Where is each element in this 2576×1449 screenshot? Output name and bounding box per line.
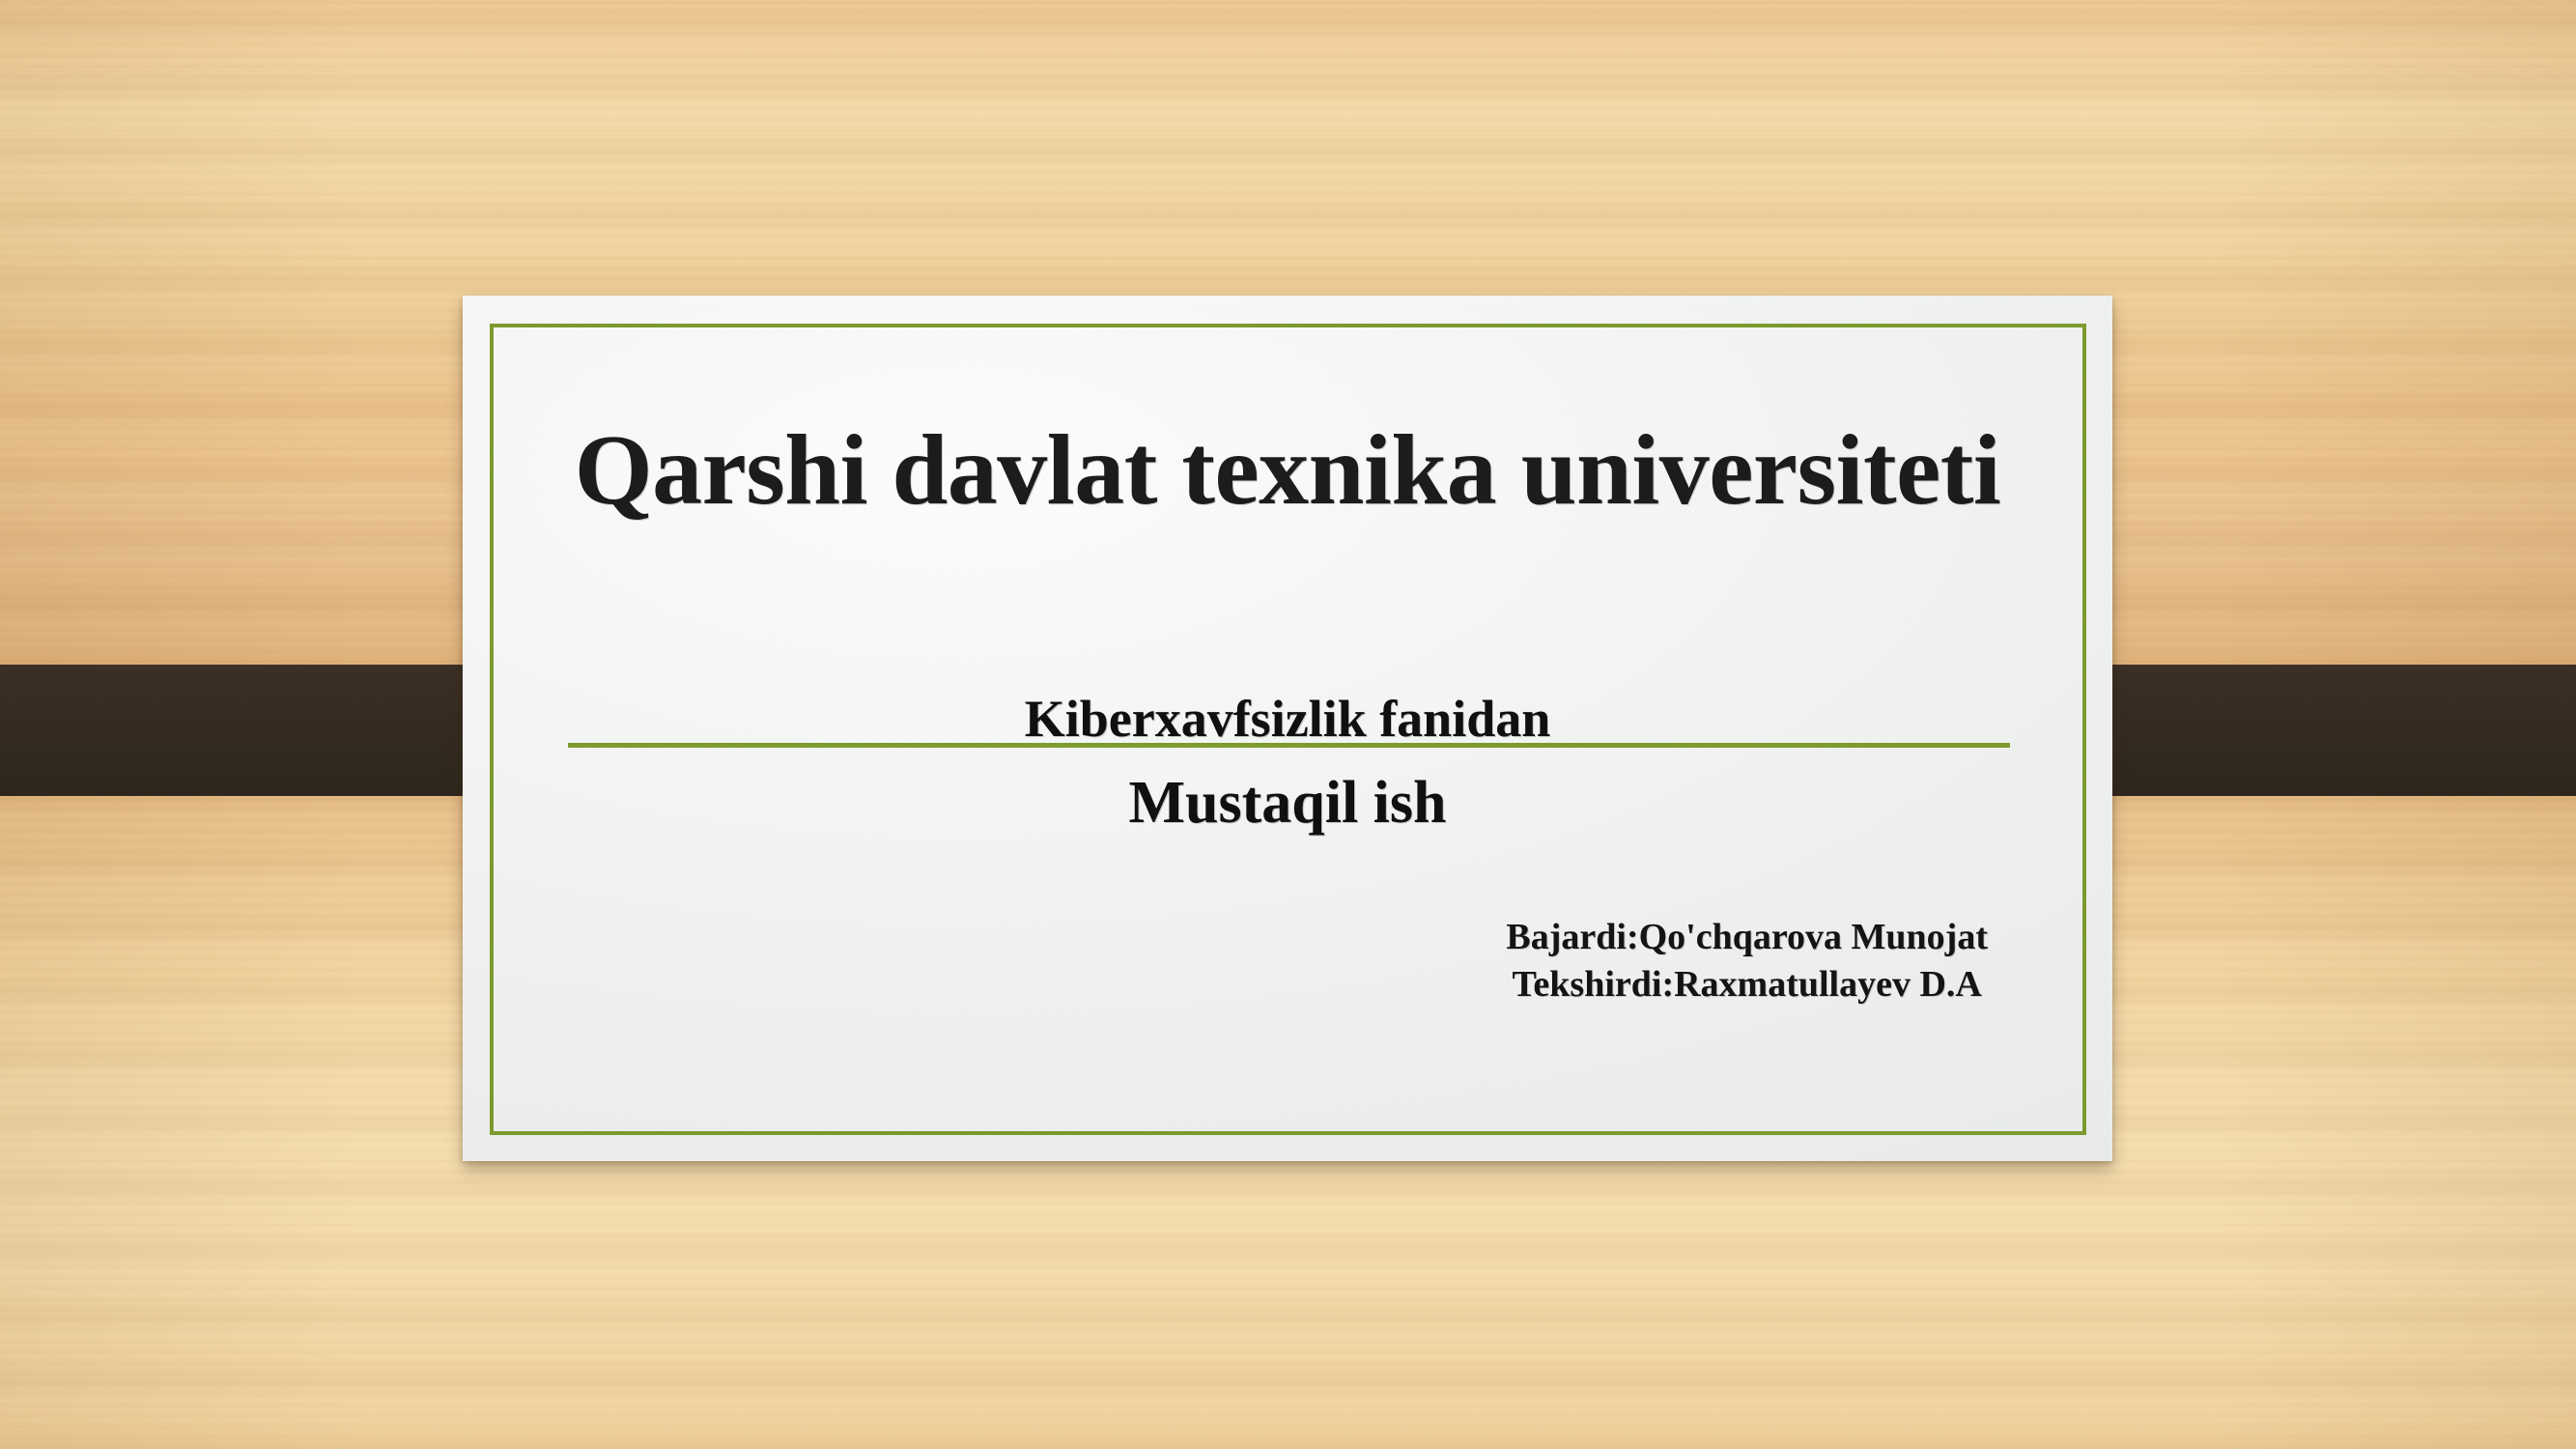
- slide-divider-line: [568, 743, 2010, 748]
- slide-card: Qarshi davlat texnika universiteti Kiber…: [463, 296, 2112, 1161]
- slide-subject-line: Kiberxavfsizlik fanidan: [521, 693, 2054, 745]
- slide-content: Qarshi davlat texnika universiteti Kiber…: [463, 296, 2112, 1161]
- ribbon-band-left: [0, 665, 523, 796]
- slide-title: Qarshi davlat texnika universiteti: [521, 419, 2054, 522]
- ribbon-band-right: [2053, 665, 2576, 796]
- slide-credits-block: Bajardi:Qo'chqarova Munojat Tekshirdi:Ra…: [1506, 914, 1988, 1008]
- credit-line-reviewer: Tekshirdi:Raxmatullayev D.A: [1506, 961, 1988, 1009]
- credit-line-author: Bajardi:Qo'chqarova Munojat: [1506, 914, 1988, 961]
- presentation-slide-canvas: Qarshi davlat texnika universiteti Kiber…: [0, 0, 2576, 1449]
- slide-work-type: Mustaqil ish: [521, 773, 2054, 833]
